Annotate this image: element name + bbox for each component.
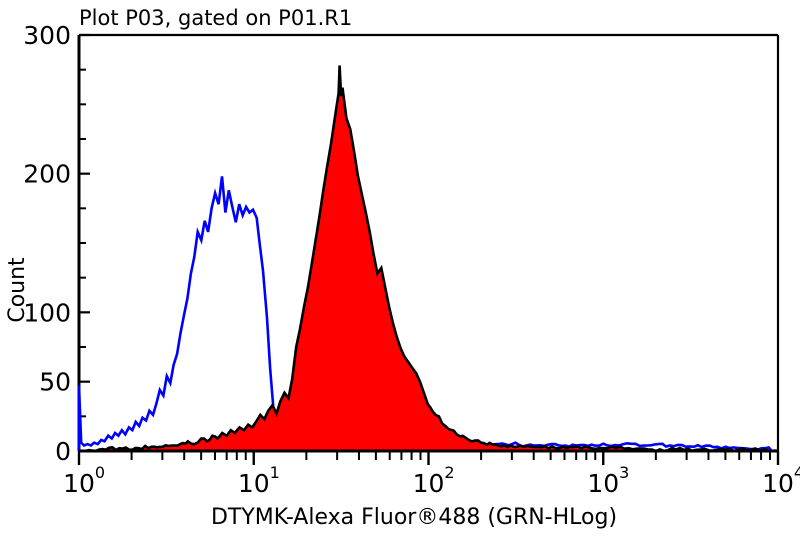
y-tick-label: 300 bbox=[23, 21, 71, 50]
x-tick-label: 104 bbox=[762, 463, 800, 498]
x-axis-label: DTYMK-Alexa Fluor®488 (GRN-HLog) bbox=[211, 505, 617, 530]
histogram-trace-stained bbox=[79, 66, 778, 452]
y-axis-tick-labels: 050100200300 bbox=[23, 21, 71, 466]
x-tick-label: 100 bbox=[63, 463, 105, 498]
x-axis-ticks bbox=[79, 451, 778, 465]
x-tick-label-base: 10 bbox=[63, 469, 95, 498]
histogram-traces bbox=[79, 66, 778, 452]
y-tick-label: 50 bbox=[39, 368, 71, 397]
x-tick-label-exponent: 3 bbox=[619, 463, 629, 482]
y-tick-label: 100 bbox=[23, 298, 71, 327]
plot-canvas: Plot P03, gated on P01.R1 Count DTYMK-Al… bbox=[0, 0, 800, 538]
x-tick-label-base: 10 bbox=[413, 469, 445, 498]
plot-title: Plot P03, gated on P01.R1 bbox=[79, 6, 352, 30]
x-tick-label: 103 bbox=[587, 463, 629, 498]
x-tick-label-base: 10 bbox=[762, 469, 794, 498]
x-axis-tick-labels: 100101102103104 bbox=[63, 463, 800, 498]
x-tick-label-base: 10 bbox=[238, 469, 270, 498]
y-tick-label: 0 bbox=[55, 437, 71, 466]
x-tick-label-exponent: 2 bbox=[444, 463, 454, 482]
x-tick-label-exponent: 1 bbox=[270, 463, 280, 482]
plot-frame bbox=[79, 35, 778, 451]
x-tick-label: 101 bbox=[238, 463, 280, 498]
flow-cytometry-histogram-figure: Plot P03, gated on P01.R1 Count DTYMK-Al… bbox=[0, 0, 800, 538]
y-axis-ticks bbox=[79, 35, 90, 451]
x-tick-label-exponent: 0 bbox=[95, 463, 105, 482]
x-tick-label: 102 bbox=[413, 463, 455, 498]
x-tick-label-exponent: 4 bbox=[794, 463, 800, 482]
x-tick-label-base: 10 bbox=[587, 469, 619, 498]
y-tick-label: 200 bbox=[23, 160, 71, 189]
